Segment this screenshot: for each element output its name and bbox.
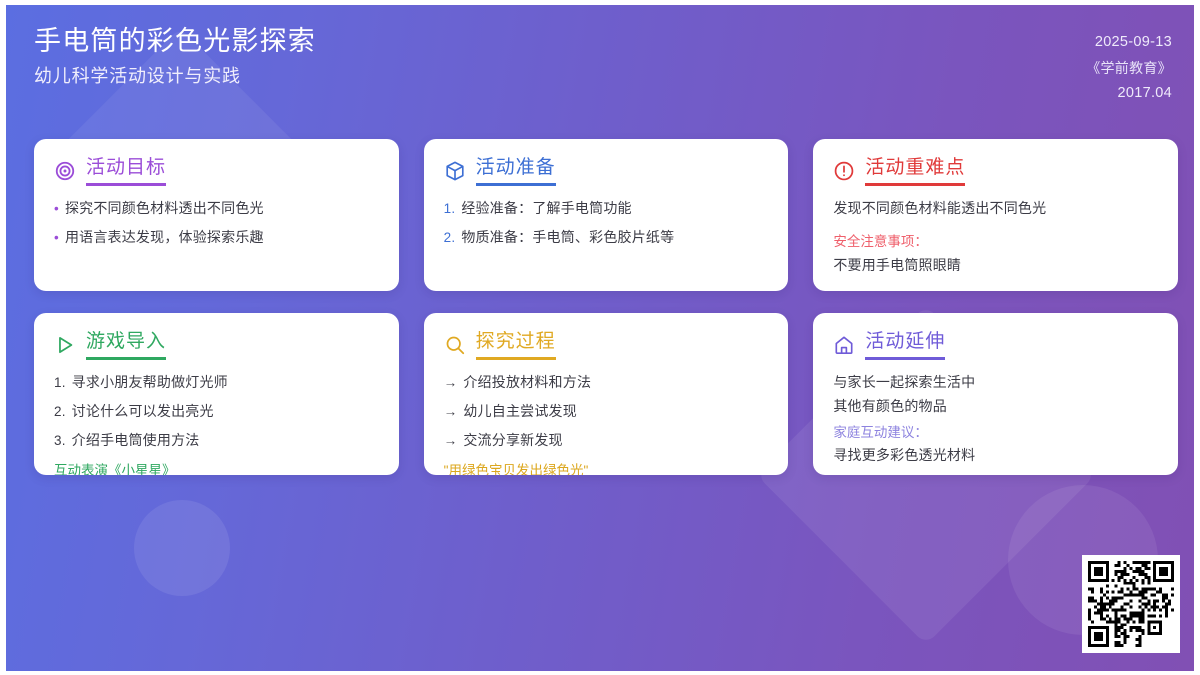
header-meta-block: 2025-09-13 《学前教育》 2017.04	[1086, 27, 1172, 105]
decor-circle-bottom-left	[134, 500, 230, 596]
card-key-points-body: 发现不同颜色材料能透出不同色光 安全注意事项： 不要用手电筒照眼睛	[833, 198, 1158, 276]
number-marker: 3.	[54, 431, 66, 452]
slide-root: 手电筒的彩色光影探索 幼儿科学活动设计与实践 2025-09-13 《学前教育》…	[0, 0, 1200, 675]
card-preparation-title: 活动准备	[476, 157, 556, 186]
card-preparation-body: 1. 经验准备：了解手电筒功能 2. 物质准备：手电筒、彩色胶片纸等	[444, 198, 769, 249]
card-goals-title: 活动目标	[86, 157, 166, 186]
safety-note-label: 安全注意事项：	[833, 230, 1158, 250]
card-goals-header: 活动目标	[54, 157, 379, 186]
card-key-points[interactable]: 活动重难点 发现不同颜色材料能透出不同色光 安全注意事项： 不要用手电筒照眼睛	[813, 139, 1178, 291]
card-extension[interactable]: 活动延伸 与家长一起探索生活中 其他有颜色的物品 家庭互动建议： 寻找更多彩色透…	[813, 313, 1178, 475]
play-triangle-icon	[54, 334, 76, 356]
list-item: 1. 经验准备：了解手电筒功能	[444, 198, 769, 220]
slide-header: 手电筒的彩色光影探索 幼儿科学活动设计与实践 2025-09-13 《学前教育》…	[6, 5, 1194, 125]
alert-circle-icon	[833, 160, 855, 182]
bullet-marker: •	[54, 199, 59, 220]
home-icon	[833, 334, 855, 356]
card-key-points-title: 活动重难点	[865, 157, 965, 186]
list-item: → 交流分享新发现	[444, 430, 769, 452]
list-item: → 介绍投放材料和方法	[444, 372, 769, 394]
list-item: → 幼儿自主尝试发现	[444, 401, 769, 423]
box-icon	[444, 160, 466, 182]
card-exploration-body: → 介绍投放材料和方法 → 幼儿自主尝试发现 → 交流分享新发现 "用绿色宝贝发…	[444, 372, 769, 475]
card-grid: 活动目标 • 探究不同颜色材料透出不同色光 • 用语言表达发现，体验探索乐趣	[34, 139, 1178, 475]
list-item-text: 用语言表达发现，体验探索乐趣	[65, 227, 264, 249]
list-item: • 用语言表达发现，体验探索乐趣	[54, 227, 379, 249]
extension-text-line-2: 其他有颜色的物品	[833, 396, 1158, 418]
list-item: 3. 介绍手电筒使用方法	[54, 430, 379, 452]
list-item-text: 寻求小朋友帮助做灯光师	[72, 372, 228, 394]
card-game-intro-header: 游戏导入	[54, 331, 379, 360]
card-goals-body: • 探究不同颜色材料透出不同色光 • 用语言表达发现，体验探索乐趣	[54, 198, 379, 249]
bullet-marker: •	[54, 228, 59, 249]
list-item-text: 讨论什么可以发出亮光	[72, 401, 214, 423]
number-marker: 1.	[444, 199, 456, 220]
arrow-marker: →	[444, 373, 458, 394]
exploration-quote: "用绿色宝贝发出绿色光"	[444, 459, 769, 475]
game-intro-footer: 互动表演《小星星》	[54, 459, 379, 475]
number-marker: 1.	[54, 373, 66, 394]
card-exploration[interactable]: 探究过程 → 介绍投放材料和方法 → 幼儿自主尝试发现 → 交流分享新发现	[424, 313, 789, 475]
list-item: 1. 寻求小朋友帮助做灯光师	[54, 372, 379, 394]
meta-journal: 《学前教育》	[1086, 58, 1172, 79]
card-game-intro-title: 游戏导入	[86, 331, 166, 360]
card-preparation[interactable]: 活动准备 1. 经验准备：了解手电筒功能 2. 物质准备：手电筒、彩色胶片纸等	[424, 139, 789, 291]
list-item-text: 介绍手电筒使用方法	[72, 430, 200, 452]
meta-issue: 2017.04	[1117, 83, 1172, 105]
arrow-marker: →	[444, 402, 458, 423]
extension-text-line-1: 与家长一起探索生活中	[833, 372, 1158, 394]
qr-code	[1088, 561, 1174, 647]
list-item: 2. 物质准备：手电筒、彩色胶片纸等	[444, 227, 769, 249]
list-item-text: 探究不同颜色材料透出不同色光	[65, 198, 264, 220]
search-icon	[444, 334, 466, 356]
list-item-text: 介绍投放材料和方法	[463, 372, 591, 394]
slide-canvas: 手电筒的彩色光影探索 幼儿科学活动设计与实践 2025-09-13 《学前教育》…	[6, 5, 1194, 671]
meta-date: 2025-09-13	[1095, 32, 1172, 54]
card-extension-header: 活动延伸	[833, 331, 1158, 360]
safety-note-text: 不要用手电筒照眼睛	[833, 255, 1158, 277]
family-tip-text: 寻找更多彩色透光材料	[833, 445, 1158, 467]
number-marker: 2.	[444, 228, 456, 249]
header-title-block: 手电筒的彩色光影探索 幼儿科学活动设计与实践	[34, 27, 316, 86]
list-item-text: 经验准备：了解手电筒功能	[461, 198, 631, 220]
page-subtitle: 幼儿科学活动设计与实践	[34, 67, 316, 87]
card-game-intro-body: 1. 寻求小朋友帮助做灯光师 2. 讨论什么可以发出亮光 3. 介绍手电筒使用方…	[54, 372, 379, 475]
card-key-points-header: 活动重难点	[833, 157, 1158, 186]
list-item: 2. 讨论什么可以发出亮光	[54, 401, 379, 423]
card-extension-title: 活动延伸	[865, 331, 945, 360]
card-game-intro[interactable]: 游戏导入 1. 寻求小朋友帮助做灯光师 2. 讨论什么可以发出亮光 3. 介绍手…	[34, 313, 399, 475]
list-item-text: 物质准备：手电筒、彩色胶片纸等	[461, 227, 674, 249]
card-extension-body: 与家长一起探索生活中 其他有颜色的物品 家庭互动建议： 寻找更多彩色透光材料	[833, 372, 1158, 467]
arrow-marker: →	[444, 431, 458, 452]
card-goals[interactable]: 活动目标 • 探究不同颜色材料透出不同色光 • 用语言表达发现，体验探索乐趣	[34, 139, 399, 291]
page-title: 手电筒的彩色光影探索	[34, 27, 316, 57]
target-icon	[54, 160, 76, 182]
key-points-text: 发现不同颜色材料能透出不同色光	[833, 198, 1158, 220]
card-exploration-header: 探究过程	[444, 331, 769, 360]
list-item-text: 交流分享新发现	[463, 430, 562, 452]
number-marker: 2.	[54, 402, 66, 423]
family-tip-label: 家庭互动建议：	[833, 421, 1158, 441]
list-item-text: 幼儿自主尝试发现	[463, 401, 577, 423]
card-exploration-title: 探究过程	[476, 331, 556, 360]
card-preparation-header: 活动准备	[444, 157, 769, 186]
list-item: • 探究不同颜色材料透出不同色光	[54, 198, 379, 220]
qr-code-container[interactable]	[1082, 555, 1180, 653]
